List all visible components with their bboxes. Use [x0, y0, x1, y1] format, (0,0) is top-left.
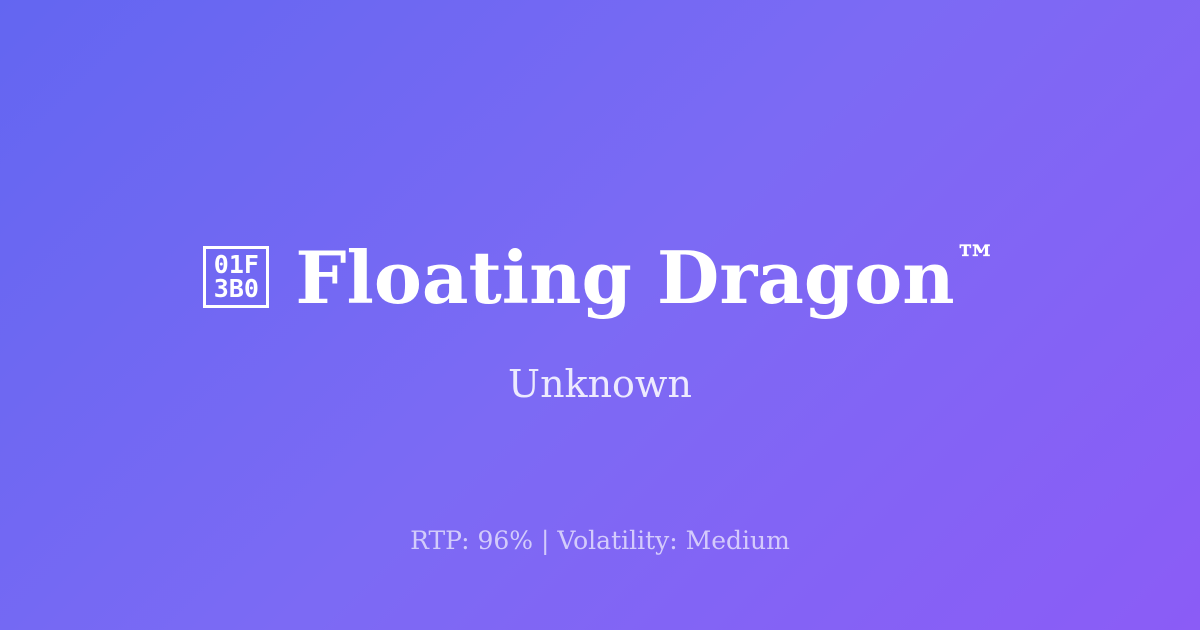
codepoint-line-2: 3B0 — [214, 277, 259, 302]
provider-label: Unknown — [0, 362, 1200, 408]
slot-machine-icon: 01F 3B0 — [203, 246, 269, 308]
og-share-card: 01F 3B0 Floating Dragon™ Unknown RTP: 96… — [0, 0, 1200, 630]
title-row: 01F 3B0 Floating Dragon™ — [0, 232, 1200, 322]
page-title: Floating Dragon™ — [295, 240, 996, 314]
game-stats-line: RTP: 96% | Volatility: Medium — [0, 525, 1200, 556]
game-title-text: Floating Dragon — [295, 235, 954, 320]
tofu-codepoint-glyph: 01F 3B0 — [214, 253, 259, 302]
trademark-symbol: ™ — [955, 236, 997, 285]
